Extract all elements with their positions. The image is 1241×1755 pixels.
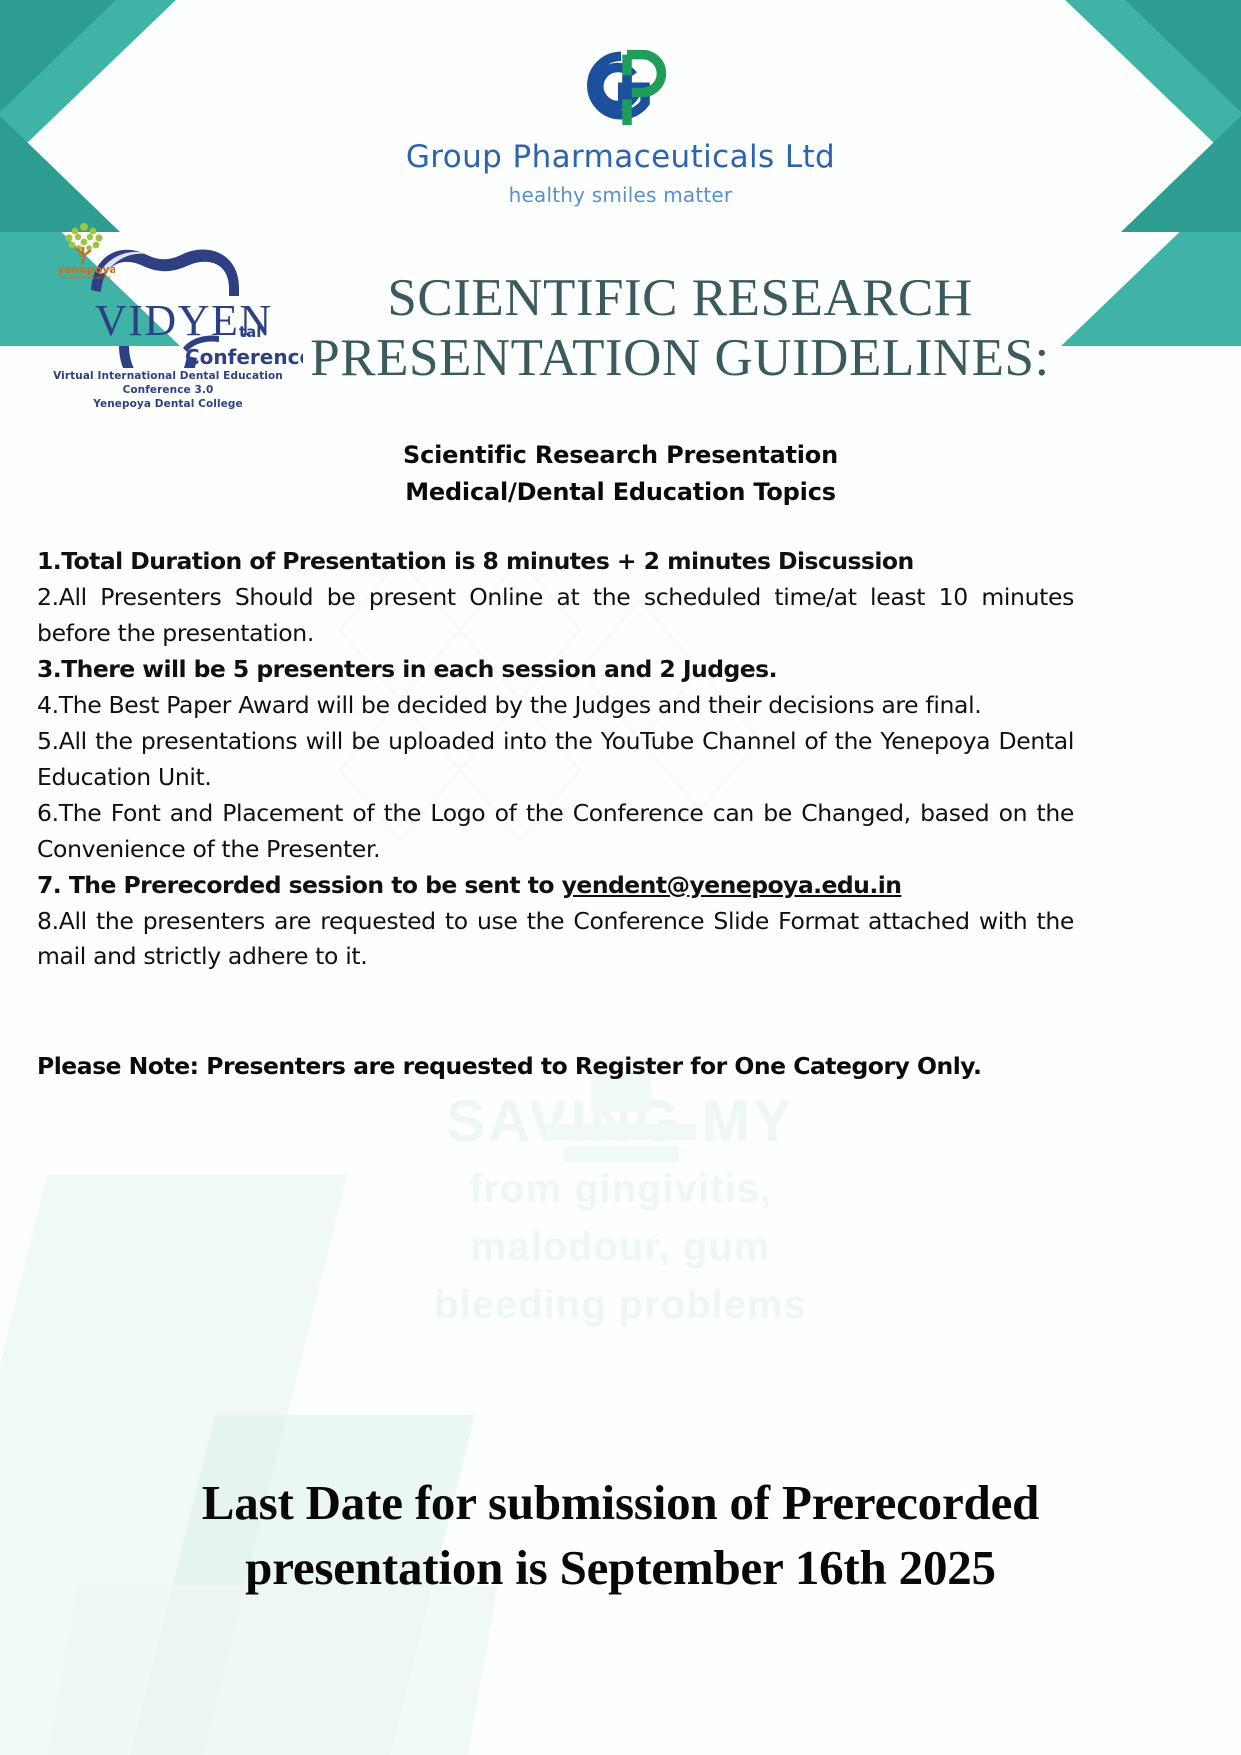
yenepoya-tree-icon: yenepoya Dental Educational Unit <box>53 218 115 280</box>
guideline-number-2: 2. <box>37 583 59 611</box>
deadline-line2: presentation is September 16th 2025 <box>0 1535 1241 1600</box>
guideline-text-4: The Best Paper Award will be decided by … <box>59 691 982 719</box>
guideline-item-6: 6.The Font and Placement of the Logo of … <box>37 796 1074 868</box>
conference-caption: Virtual International Dental Education C… <box>33 369 303 412</box>
guideline-item-5: 5.All the presentations will be uploaded… <box>37 724 1074 796</box>
watermark-sub-3: bleeding problems <box>0 1281 1241 1329</box>
guideline-item-2: 2.All Presenters Should be present Onlin… <box>37 580 1074 652</box>
guideline-text-5: All the presentations will be uploaded i… <box>37 727 1074 791</box>
guideline-item-8: 8.All the presenters are requested to us… <box>37 904 1074 976</box>
company-header: Group Pharmaceuticals Ltd healthy smiles… <box>0 46 1241 207</box>
guideline-text-6: The Font and Placement of the Logo of th… <box>37 799 1074 863</box>
guideline-text-8: All the presenters are requested to use … <box>37 907 1074 971</box>
watermark-sub-1: from gingivitis, <box>0 1165 1241 1213</box>
svg-text:tal: tal <box>239 323 261 341</box>
guideline-number-1: 1. <box>37 547 61 575</box>
vidyental-tooth-logo-icon: VIDYEN tal Conference 3.0 <box>33 218 303 368</box>
guideline-number-8: 8. <box>37 907 59 935</box>
guideline-number-5: 5. <box>37 727 59 755</box>
company-name: Group Pharmaceuticals Ltd <box>0 140 1241 174</box>
please-note-text: Please Note: Presenters are requested to… <box>37 1052 1074 1080</box>
mint-panel-a-shape <box>0 1175 347 1755</box>
page-subtitle-line1: Scientific Research Presentation <box>0 437 1241 474</box>
conference-caption-line2: Yenepoya Dental College <box>33 397 303 411</box>
deadline-line1: Last Date for submission of Prerecorded <box>0 1470 1241 1535</box>
conference-caption-line1: Virtual International Dental Education C… <box>33 369 303 397</box>
watermark-sub-2: malodour, gum <box>0 1223 1241 1271</box>
guideline-text-7: The Prerecorded session to be sent to <box>69 871 562 899</box>
guideline-item-1: 1.Total Duration of Presentation is 8 mi… <box>37 544 1074 580</box>
submission-email-link[interactable]: yendent@yenepoya.edu.in <box>562 871 902 899</box>
deadline-footer: Last Date for submission of Prerecorded … <box>0 1470 1241 1600</box>
guideline-number-4: 4. <box>37 691 59 719</box>
guideline-text-1: Total Duration of Presentation is 8 minu… <box>61 547 913 575</box>
watermark-badge-icon <box>546 1072 696 1164</box>
poster-page: SAVING MY from gingivitis, malodour, gum… <box>0 0 1241 1755</box>
guidelines-list: 1.Total Duration of Presentation is 8 mi… <box>37 544 1074 975</box>
page-subtitle: Scientific Research Presentation Medical… <box>0 437 1241 511</box>
page-title-line2: PRESENTATION GUIDELINES: <box>280 328 1080 388</box>
gp-monogram-icon <box>573 46 669 132</box>
conference-logo: VIDYEN tal Conference 3.0 <box>33 218 303 412</box>
watermark-title: SAVING MY <box>0 1090 1241 1155</box>
guideline-number-3: 3. <box>37 655 61 683</box>
guideline-text-3: There will be 5 presenters in each sessi… <box>61 655 777 683</box>
guideline-item-4: 4.The Best Paper Award will be decided b… <box>37 688 1074 724</box>
mint-panel-c-shape <box>2 1585 498 1755</box>
guideline-number-7: 7. <box>37 871 69 899</box>
guideline-number-6: 6. <box>37 799 59 827</box>
svg-text:Dental Educational Unit: Dental Educational Unit <box>61 275 111 280</box>
guideline-item-3: 3.There will be 5 presenters in each ses… <box>37 652 1074 688</box>
page-subtitle-line2: Medical/Dental Education Topics <box>0 474 1241 511</box>
company-tagline: healthy smiles matter <box>0 183 1241 207</box>
guideline-text-2: All Presenters Should be present Online … <box>37 583 1074 647</box>
page-title-line1: SCIENTIFIC RESEARCH <box>280 268 1080 328</box>
background-watermark-text: SAVING MY from gingivitis, malodour, gum… <box>0 1090 1241 1329</box>
guideline-item-7: 7. The Prerecorded session to be sent to… <box>37 868 1074 904</box>
page-title: SCIENTIFIC RESEARCH PRESENTATION GUIDELI… <box>280 268 1080 389</box>
